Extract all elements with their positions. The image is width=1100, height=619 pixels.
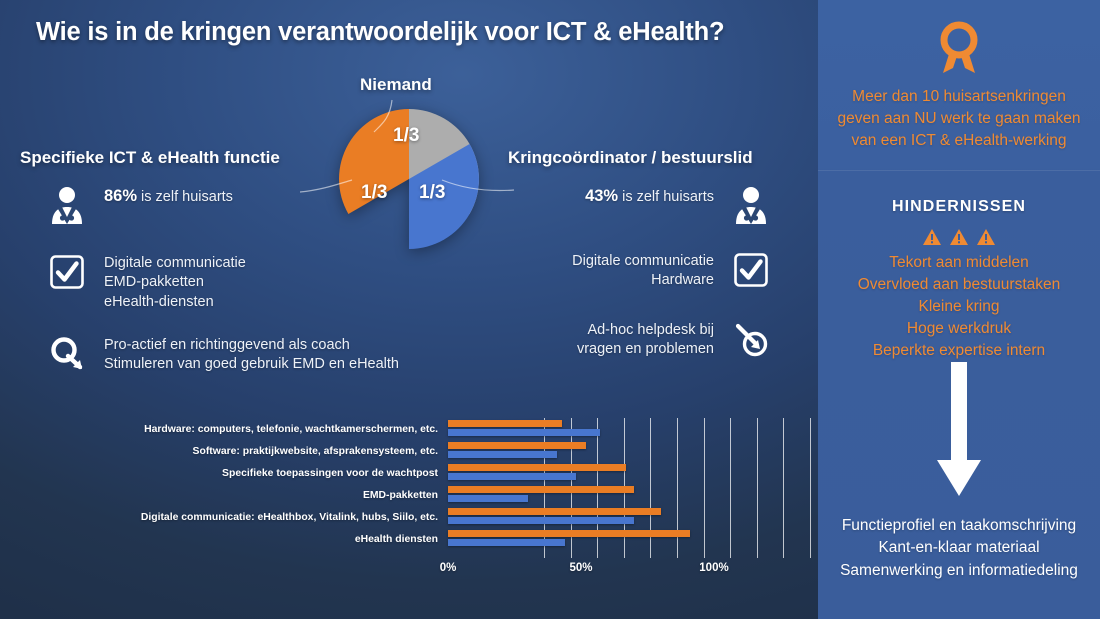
bar-category-label: EMD-pakketten: [96, 490, 448, 501]
bar-orange-series: [448, 420, 562, 427]
left-stat-value: 86%: [104, 187, 137, 205]
right-stat-value: 43%: [585, 187, 618, 205]
right-stat-text: 43% is zelf huisarts: [585, 186, 714, 208]
solution-item: Kant-en-klaar materiaal: [830, 537, 1088, 559]
bar-orange-series: [448, 442, 586, 449]
gridline: [757, 418, 758, 558]
chart-x-axis: 0%50%100%: [430, 562, 750, 582]
bar-category-label: Digitale communicatie: eHealthbox, Vital…: [96, 512, 448, 523]
left-task-line-1: Digitale communicatie: [104, 254, 246, 273]
bar-chart-row: EMD-pakketten: [96, 484, 736, 506]
bar-chart: Hardware: computers, telefonie, wachtkam…: [96, 418, 736, 580]
chart-rows: Hardware: computers, telefonie, wachtkam…: [96, 418, 736, 550]
bar-track: [448, 528, 726, 550]
bar-blue-series: [448, 429, 600, 436]
bar-track: [448, 484, 726, 506]
infographic-poster: Wie is in de kringen verantwoordelijk vo…: [0, 0, 1100, 619]
left-role-row: Pro-actief en richtinggevend als coach S…: [46, 336, 476, 375]
gridline: [810, 418, 811, 558]
bar-track: [448, 418, 726, 440]
left-role-line-1: Pro-actief en richtinggevend als coach: [104, 336, 399, 355]
award-ribbon-icon: [933, 18, 985, 76]
gridline: [783, 418, 784, 558]
obstacles-title: HINDERNISSEN: [830, 198, 1088, 216]
left-stat-row: 86% is zelf huisarts: [46, 186, 476, 226]
right-role-line-2: vragen en problemen: [577, 340, 714, 359]
left-role-text: Pro-actief en richtinggevend als coach S…: [104, 336, 399, 375]
bar-category-label: Hardware: computers, telefonie, wachtkam…: [96, 424, 448, 435]
right-tasks-text: Digitale communicatie Hardware: [572, 252, 714, 291]
checkbox-icon: [46, 254, 88, 290]
right-task-line-1: Digitale communicatie: [572, 252, 714, 271]
bar-blue-series: [448, 517, 634, 524]
left-stat-text: 86% is zelf huisarts: [104, 186, 233, 208]
left-tasks-text: Digitale communicatie EMD-pakketten eHea…: [104, 254, 246, 312]
highlight-line-3: van een ICT & eHealth-werking: [830, 130, 1088, 152]
bar-chart-row: eHealth diensten: [96, 528, 736, 550]
right-stat-row: 43% is zelf huisarts: [556, 186, 772, 226]
bar-category-label: eHealth diensten: [96, 534, 448, 545]
bar-category-label: Software: praktijkwebsite, afsprakensyst…: [96, 446, 448, 457]
arrow-target-icon: [730, 321, 772, 357]
checkbox-icon: [730, 252, 772, 288]
side-panel: Meer dan 10 huisartsenkringen geven aan …: [818, 0, 1100, 619]
bar-chart-row: Hardware: computers, telefonie, wachtkam…: [96, 418, 736, 440]
bar-orange-series: [448, 486, 634, 493]
right-role-line-1: Ad-hoc helpdesk bij: [577, 321, 714, 340]
right-role-column: 43% is zelf huisarts Digitale communicat…: [556, 186, 772, 359]
warning-icon: [976, 228, 996, 246]
bar-track: [448, 462, 726, 484]
bar-track: [448, 506, 726, 528]
warning-icon: [949, 228, 969, 246]
right-tasks-row: Digitale communicatie Hardware: [556, 252, 772, 291]
left-tasks-row: Digitale communicatie EMD-pakketten eHea…: [46, 254, 476, 312]
doctor-icon: [46, 186, 88, 226]
solutions-list: Functieprofiel en taakomschrijving Kant-…: [830, 515, 1088, 582]
bar-blue-series: [448, 495, 528, 502]
axis-tick-label: 50%: [569, 562, 592, 574]
solutions-block: Functieprofiel en taakomschrijving Kant-…: [818, 515, 1100, 582]
left-stat-suffix: is zelf huisarts: [137, 189, 233, 205]
bar-chart-row: Specifieke toepassingen voor de wachtpos…: [96, 462, 736, 484]
warning-icon-row: [830, 228, 1088, 246]
down-arrow-block: [818, 362, 1100, 502]
bar-blue-series: [448, 451, 557, 458]
left-role-column: 86% is zelf huisarts Digitale communicat…: [46, 186, 476, 374]
highlight-line-1: Meer dan 10 huisartsenkringen: [830, 86, 1088, 108]
right-role-row: Ad-hoc helpdesk bij vragen en problemen: [556, 321, 772, 360]
axis-tick-label: 100%: [699, 562, 728, 574]
pie-category-kringcoordinator: Kringcoördinator / bestuurslid: [508, 148, 753, 168]
bar-chart-row: Software: praktijkwebsite, afsprakensyst…: [96, 440, 736, 462]
magnifier-arrow-icon: [46, 336, 88, 372]
highlight-block: Meer dan 10 huisartsenkringen geven aan …: [818, 18, 1100, 152]
doctor-icon: [730, 186, 772, 226]
obstacle-item: Hoge werkdruk: [830, 318, 1088, 340]
obstacles-list: Tekort aan middelen Overvloed aan bestuu…: [830, 252, 1088, 362]
bar-blue-series: [448, 539, 565, 546]
right-task-line-2: Hardware: [572, 271, 714, 290]
obstacle-item: Kleine kring: [830, 296, 1088, 318]
obstacle-item: Beperkte expertise intern: [830, 340, 1088, 362]
right-role-text: Ad-hoc helpdesk bij vragen en problemen: [577, 321, 714, 360]
obstacle-item: Overvloed aan bestuurstaken: [830, 274, 1088, 296]
pie-category-niemand: Niemand: [360, 75, 432, 95]
solution-item: Samenwerking en informatiedeling: [830, 560, 1088, 582]
bar-orange-series: [448, 464, 626, 471]
bar-orange-series: [448, 508, 661, 515]
left-task-line-3: eHealth-diensten: [104, 293, 246, 312]
highlight-line-2: geven aan NU werk te gaan maken: [830, 108, 1088, 130]
page-title: Wie is in de kringen verantwoordelijk vo…: [36, 18, 796, 47]
solution-item: Functieprofiel en taakomschrijving: [830, 515, 1088, 537]
bar-category-label: Specifieke toepassingen voor de wachtpos…: [96, 468, 448, 479]
pie-category-ict-functie: Specifieke ICT & eHealth functie: [20, 148, 280, 168]
bar-chart-row: Digitale communicatie: eHealthbox, Vital…: [96, 506, 736, 528]
left-role-line-2: Stimuleren van goed gebruik EMD en eHeal…: [104, 355, 399, 374]
right-stat-suffix: is zelf huisarts: [618, 189, 714, 205]
bar-track: [448, 440, 726, 462]
pie-label-niemand: 1/3: [393, 125, 419, 147]
left-task-line-2: EMD-pakketten: [104, 273, 246, 292]
bar-orange-series: [448, 530, 690, 537]
obstacles-block: HINDERNISSEN Tekor: [818, 198, 1100, 362]
highlight-text: Meer dan 10 huisartsenkringen geven aan …: [830, 86, 1088, 152]
obstacle-item: Tekort aan middelen: [830, 252, 1088, 274]
warning-icon: [922, 228, 942, 246]
axis-tick-label: 0%: [440, 562, 457, 574]
down-arrow-icon: [928, 362, 990, 502]
bar-blue-series: [448, 473, 576, 480]
